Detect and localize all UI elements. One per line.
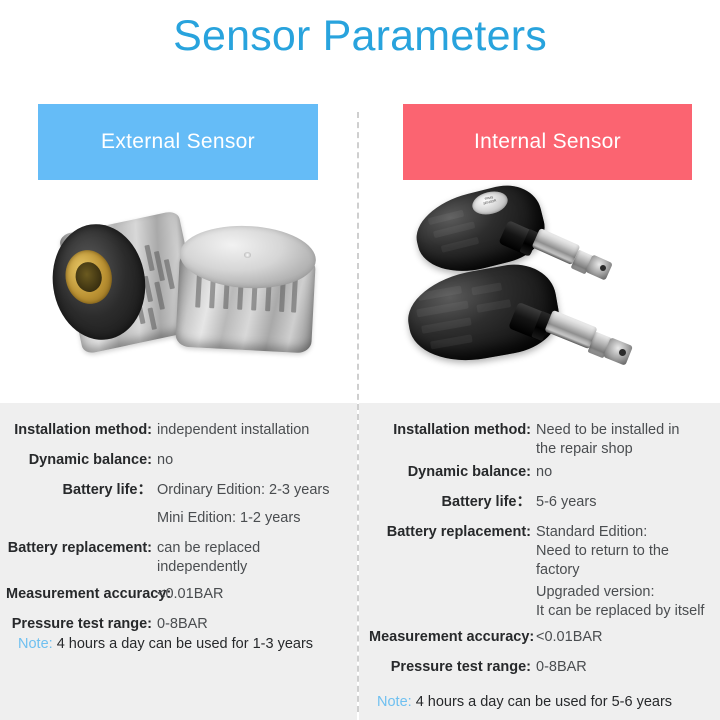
spec-label: Measurement accuracy: bbox=[6, 585, 152, 604]
column-header-internal-sensor: Internal Sensor bbox=[403, 104, 692, 180]
valve-stem-bore bbox=[619, 349, 626, 356]
spec-value: can be replaced independently bbox=[152, 539, 347, 577]
note-text: 4 hours a day can be used for 1-3 years bbox=[57, 636, 313, 652]
column-header-external-sensor: External Sensor bbox=[38, 104, 318, 180]
spec-row: Mini Edition: 1-2 years bbox=[6, 509, 351, 528]
spec-label: Battery replacement: bbox=[369, 523, 531, 542]
spec-label: Battery replacement: bbox=[6, 539, 152, 558]
spec-label: Dynamic balance: bbox=[369, 463, 531, 482]
spec-row: Upgraded version: It can be replaced by … bbox=[369, 583, 714, 621]
note-external: Note: 4 hours a day can be used for 1-3 … bbox=[18, 635, 313, 654]
spec-value: Need to be installed in the repair shop bbox=[531, 421, 711, 459]
spec-row: Battery replacement: Standard Edition: N… bbox=[369, 523, 714, 580]
spec-label: Pressure test range: bbox=[6, 615, 152, 634]
page-title: Sensor Parameters bbox=[0, 10, 720, 62]
spec-value: Ordinary Edition: 2-3 years bbox=[152, 481, 347, 500]
spec-value: Upgraded version: It can be replaced by … bbox=[531, 583, 711, 621]
spec-value: 0-8BAR bbox=[531, 658, 711, 677]
spec-label: Installation method: bbox=[6, 421, 152, 440]
spec-row: Dynamic balance: no bbox=[6, 451, 351, 470]
spec-label: Battery life： bbox=[369, 493, 531, 512]
external-sensor-photo bbox=[38, 190, 328, 395]
note-label: Note: bbox=[18, 636, 53, 652]
spec-value: no bbox=[152, 451, 347, 470]
external-sensor-spec-panel: Installation method: independent install… bbox=[0, 403, 357, 720]
spec-row: Pressure test range: 0-8BAR bbox=[6, 615, 351, 634]
spec-label: Pressure test range: bbox=[369, 658, 531, 677]
spec-row: Installation method: Need to be installe… bbox=[369, 421, 714, 459]
external-sensor-cap-upright bbox=[162, 214, 330, 372]
spec-value: 0-8BAR bbox=[152, 615, 347, 634]
banner-label-external: External Sensor bbox=[101, 130, 255, 154]
note-internal: Note: 4 hours a day can be used for 5-6 … bbox=[377, 693, 672, 712]
internal-sensor-lower bbox=[408, 260, 648, 385]
internal-sensor-photo: TPMS SENSOR bbox=[408, 182, 698, 402]
spec-row: Battery life： 5-6 years bbox=[369, 493, 714, 512]
spec-value: <0.01BAR bbox=[152, 585, 347, 604]
spec-label: Dynamic balance: bbox=[6, 451, 152, 470]
spec-row: Measurement accuracy: <0.01BAR bbox=[6, 585, 351, 604]
spec-row: Dynamic balance: no bbox=[369, 463, 714, 482]
note-label: Note: bbox=[377, 694, 412, 710]
spec-label: Measurement accuracy: bbox=[369, 628, 531, 647]
internal-sensor-spec-panel: Installation method: Need to be installe… bbox=[359, 403, 720, 720]
spec-row: Battery replacement: can be replaced ind… bbox=[6, 539, 351, 577]
spec-label: Battery life： bbox=[6, 481, 152, 500]
spec-value: Standard Edition: Need to return to the … bbox=[531, 523, 711, 580]
spec-label: Installation method: bbox=[369, 421, 531, 440]
spec-row: Pressure test range: 0-8BAR bbox=[369, 658, 714, 677]
valve-stem-metal bbox=[544, 310, 597, 349]
spec-row: Battery life： Ordinary Edition: 2-3 year… bbox=[6, 481, 351, 500]
note-text: 4 hours a day can be used for 5-6 years bbox=[416, 694, 672, 710]
spec-value: <0.01BAR bbox=[531, 628, 711, 647]
spec-row: Measurement accuracy: <0.01BAR bbox=[369, 628, 714, 647]
spec-row: Installation method: independent install… bbox=[6, 421, 351, 440]
spec-value: Mini Edition: 1-2 years bbox=[152, 509, 347, 528]
spec-value: 5-6 years bbox=[531, 493, 711, 512]
banner-label-internal: Internal Sensor bbox=[474, 130, 621, 154]
spec-value: independent installation bbox=[152, 421, 347, 440]
spec-value: no bbox=[531, 463, 711, 482]
